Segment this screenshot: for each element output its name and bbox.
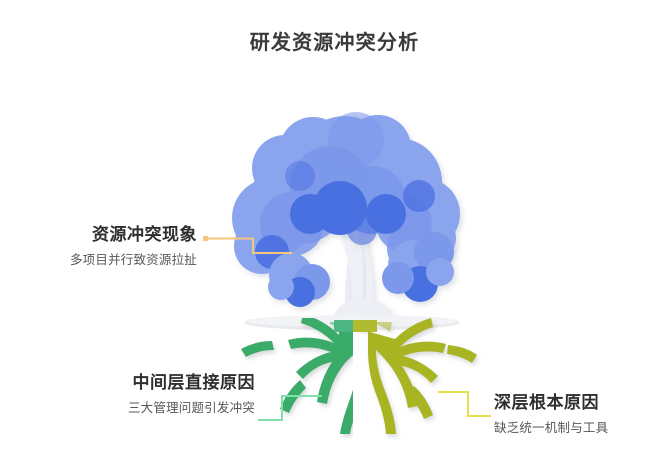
callout-mid-cause-subtitle: 三大管理问题引发冲突	[55, 400, 255, 416]
callout-root-cause: 深层根本原因 缺乏统一机制与工具	[494, 392, 669, 437]
connector-root-cause	[438, 392, 491, 416]
callout-mid-cause: 中间层直接原因 三大管理问题引发冲突	[55, 372, 255, 417]
callout-phenomenon: 资源冲突现象 多项目并行致资源拉扯	[0, 224, 197, 269]
leaf-cluster-left	[268, 253, 330, 307]
roots-olive	[334, 318, 477, 434]
callout-root-cause-subtitle: 缺乏统一机制与工具	[494, 420, 669, 436]
callout-root-cause-title: 深层根本原因	[494, 392, 669, 413]
root-collar-olive	[353, 320, 377, 332]
callout-phenomenon-title: 资源冲突现象	[0, 224, 197, 245]
root-collar-green	[334, 320, 353, 332]
infographic-canvas: 研发资源冲突分析	[0, 0, 669, 472]
callout-mid-cause-title: 中间层直接原因	[55, 372, 255, 393]
callout-phenomenon-subtitle: 多项目并行致资源拉扯	[0, 252, 197, 268]
